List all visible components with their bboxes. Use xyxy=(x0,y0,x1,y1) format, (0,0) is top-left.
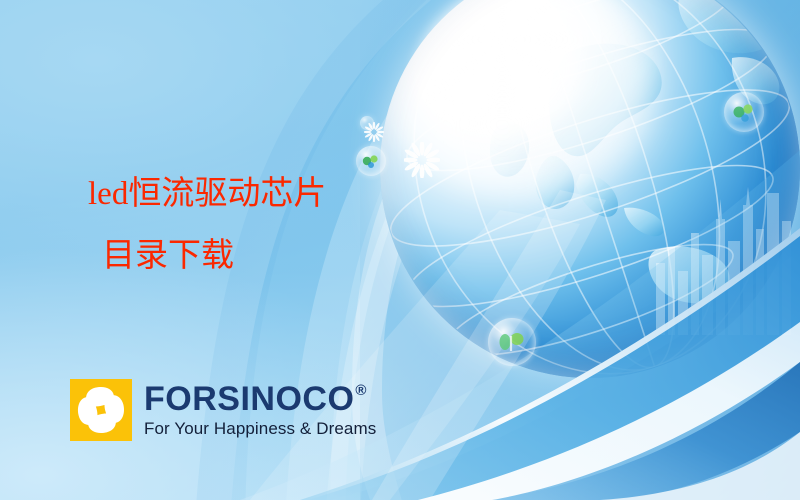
pinwheel-sprite-icon xyxy=(724,92,764,132)
bubble-sprout-lower xyxy=(488,318,536,366)
bubble-small-upper xyxy=(360,116,374,130)
page-title: led恒流驱动芯片 目录下载 xyxy=(88,163,326,287)
headline-line-2: 目录下载 xyxy=(88,225,326,287)
flower-sprite-large-icon xyxy=(404,142,440,178)
pinwheel-sprite-icon xyxy=(356,146,386,176)
brand-logo: FORSINOCO ® For Your Happiness & Dreams xyxy=(70,379,376,441)
logo-tagline: For Your Happiness & Dreams xyxy=(144,419,376,439)
sprout-leaf-icon xyxy=(488,318,536,366)
headline-line-1: led恒流驱动芯片 xyxy=(88,176,326,212)
four-petal-pinwheel-icon xyxy=(70,379,132,441)
logo-text-block: FORSINOCO ® For Your Happiness & Dreams xyxy=(144,382,376,439)
registered-trademark-icon: ® xyxy=(355,383,367,398)
bubble-pinwheel-top-right xyxy=(724,92,764,132)
logo-mark xyxy=(70,379,132,441)
city-skyline-icon xyxy=(650,185,800,335)
promo-banner: led恒流驱动芯片 目录下载 FORSINOCO ® xyxy=(0,0,800,500)
bubble-pinwheel-center xyxy=(356,146,386,176)
logo-name-text: FORSINOCO xyxy=(144,382,354,416)
logo-wordmark: FORSINOCO ® xyxy=(144,382,376,416)
